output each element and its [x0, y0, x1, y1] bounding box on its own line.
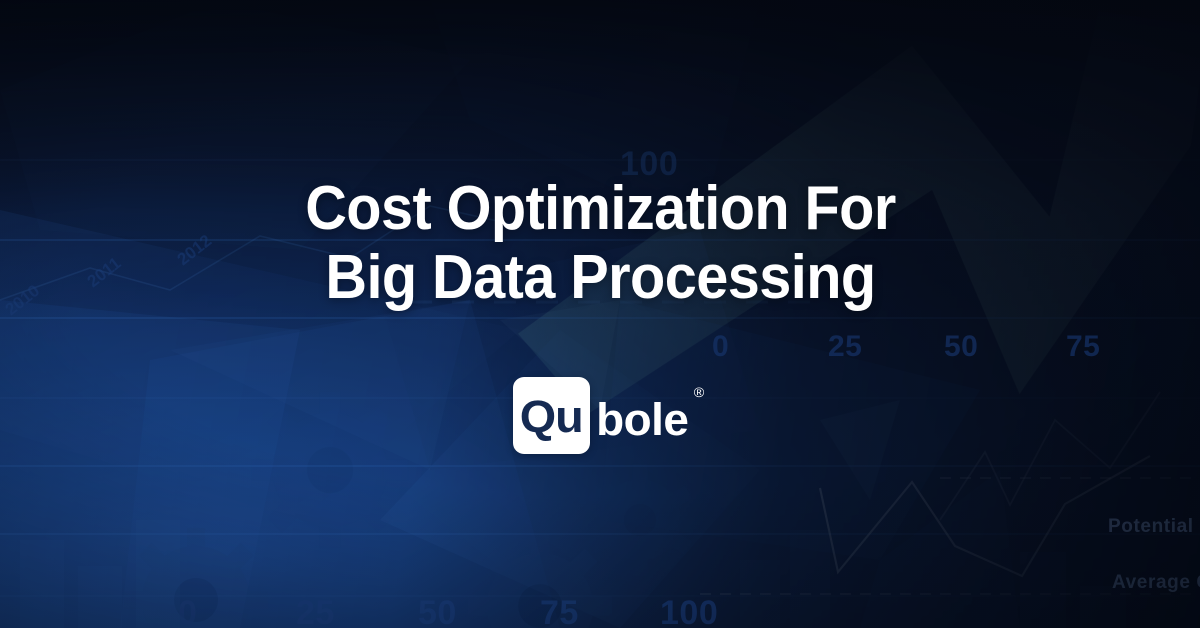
qubole-logo-word-text: bole — [596, 394, 688, 445]
qubole-logo-wordmark: bole ® — [596, 397, 688, 442]
registered-trademark-icon: ® — [693, 385, 703, 399]
qubole-logo[interactable]: Qu bole ® — [513, 376, 688, 454]
page-title-line-1: Cost Optimization For — [305, 174, 895, 243]
hero-content: Cost Optimization For Big Data Processin… — [0, 0, 1200, 628]
qubole-logo-mark-text: Qu — [520, 394, 583, 439]
banner-canvas: 100 0 25 50 75 0 25 50 75 100 2010 2011 … — [0, 0, 1200, 628]
page-title-line-2: Big Data Processing — [305, 243, 895, 312]
page-title: Cost Optimization For Big Data Processin… — [305, 174, 895, 313]
qubole-logo-mark: Qu — [513, 377, 590, 454]
